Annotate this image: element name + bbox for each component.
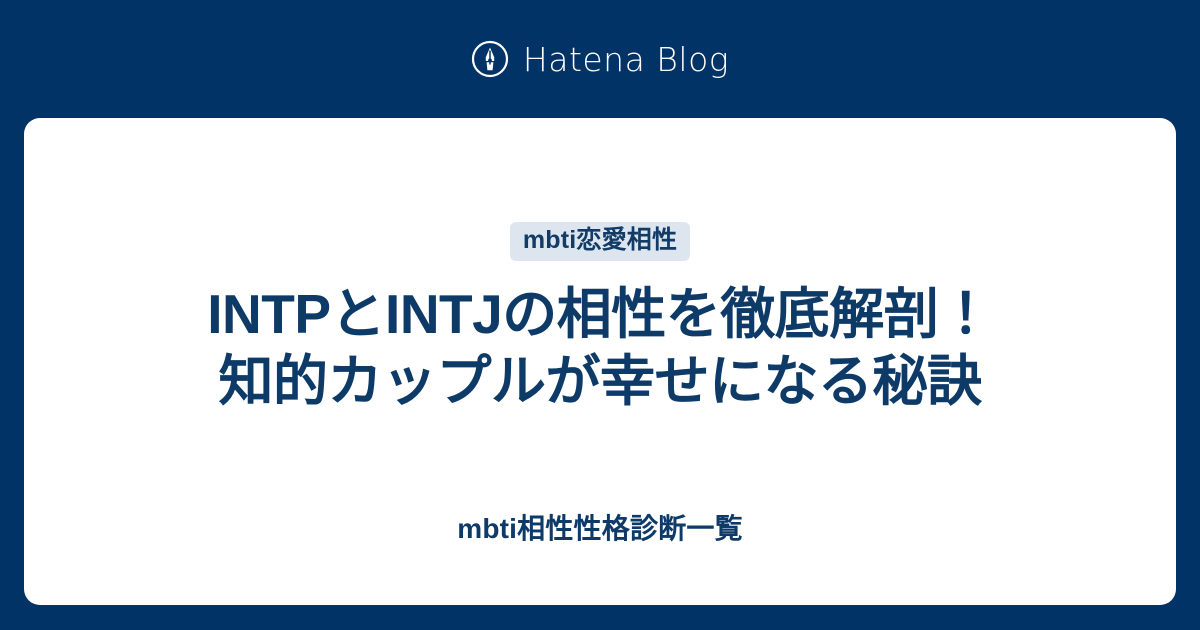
entry-title-line-2: 知的カップルが幸せになる秘訣 — [84, 348, 1116, 415]
entry-title-line-1: INTPとINTJの相性を徹底解剖！ — [84, 281, 1116, 348]
entry-card-content: mbti恋愛相性 INTPとINTJの相性を徹底解剖！ 知的カップルが幸せになる… — [24, 118, 1176, 546]
category-tag[interactable]: mbti恋愛相性 — [510, 222, 690, 261]
category-tag-row: mbti恋愛相性 — [510, 222, 690, 261]
blog-name[interactable]: mbti相性性格診断一覧 — [457, 512, 743, 546]
hatena-blog-wordmark: Hatena Blog — [523, 43, 729, 76]
entry-title: INTPとINTJの相性を徹底解剖！ 知的カップルが幸せになる秘訣 — [84, 281, 1116, 415]
entry-card: mbti恋愛相性 INTPとINTJの相性を徹底解剖！ 知的カップルが幸せになる… — [24, 118, 1176, 605]
hatena-pen-nib-icon — [471, 40, 509, 78]
hatena-blog-header: Hatena Blog — [0, 0, 1200, 118]
